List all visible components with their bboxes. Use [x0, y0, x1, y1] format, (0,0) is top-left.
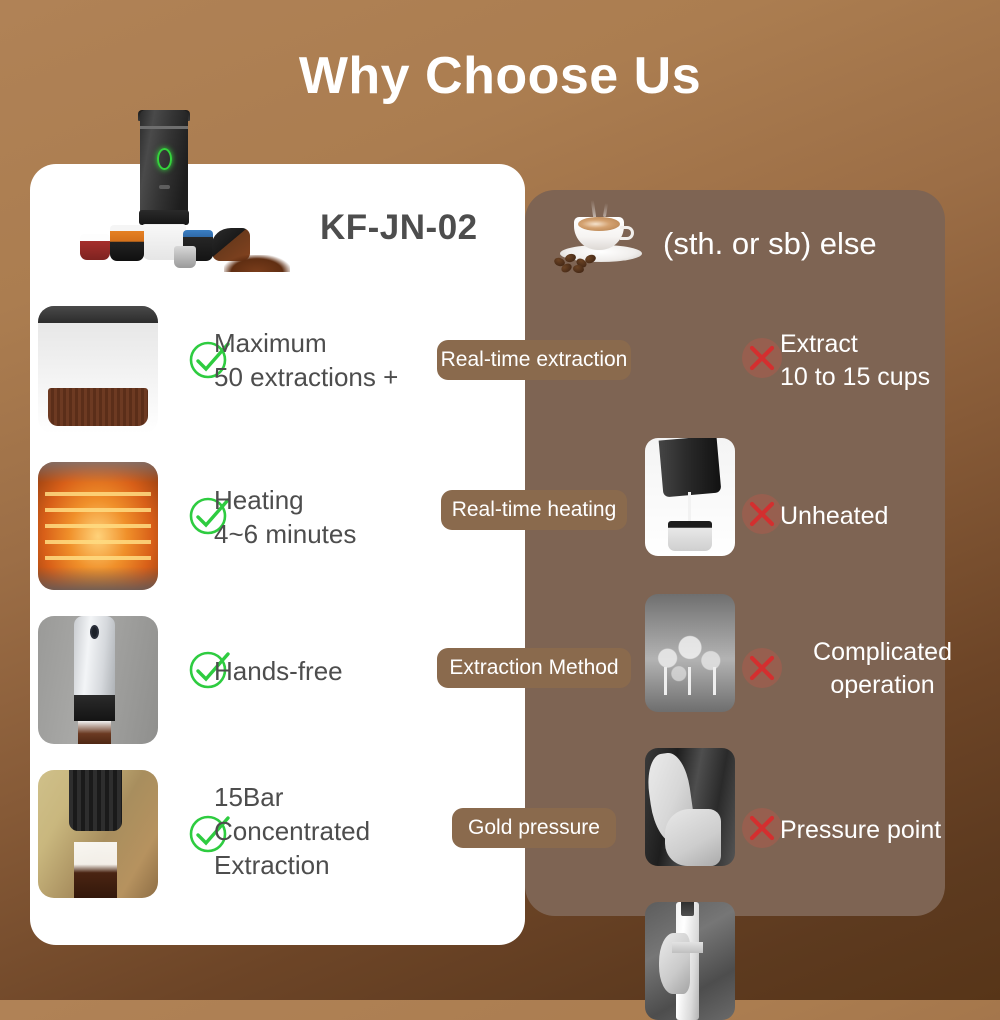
machine-button	[159, 185, 170, 189]
competitor-header-label: (sth. or sb) else	[663, 226, 877, 262]
ours-line: Heating	[214, 483, 356, 517]
comparison-row: Heating 4~6 minutes Real-time heating Un…	[0, 462, 1000, 592]
machine-led-icon	[90, 625, 99, 639]
steam-wisp-1	[591, 200, 596, 218]
ours-line: Maximum	[214, 326, 398, 360]
coffee-beans	[552, 252, 604, 270]
theirs-line: Pressure point	[780, 814, 941, 847]
theirs-line: Extract	[780, 328, 930, 361]
cup-handle	[620, 226, 634, 240]
comparison-row: Maximum 50 extractions + Real-time extra…	[0, 306, 1000, 436]
ours-thumbnail	[38, 306, 158, 434]
feature-label-pill: Real-time heating	[441, 490, 627, 530]
ours-feature-text: 15Bar Concentrated Extraction	[214, 780, 370, 882]
feature-label-pill: Real-time extraction	[437, 340, 631, 380]
cross-circle-icon	[738, 644, 786, 692]
cross-circle-icon	[738, 334, 786, 382]
coffee-liquid	[78, 721, 112, 744]
coffee-grounds-pile	[224, 255, 290, 272]
machine-collar	[139, 210, 189, 225]
ours-thumbnail	[38, 462, 158, 590]
ours-line: Hands-free	[214, 654, 343, 688]
ours-line: 4~6 minutes	[214, 517, 356, 551]
product-model-label: KF-JN-02	[320, 208, 478, 248]
ours-line: Extraction	[214, 848, 370, 882]
theirs-feature-text: Extract 10 to 15 cups	[780, 328, 930, 394]
cross-circle-icon	[738, 490, 786, 538]
ours-thumbnail	[38, 770, 158, 898]
capsule-silver	[174, 246, 196, 268]
cappuccino-cup-icon	[552, 200, 657, 270]
ours-line: Concentrated	[214, 814, 370, 848]
theirs-feature-text: Complicated operation	[780, 636, 985, 702]
latte-art-crema	[578, 217, 620, 231]
ours-feature-text: Hands-free	[214, 654, 343, 688]
cross-circle-icon	[738, 804, 786, 852]
capsule-red	[80, 234, 110, 260]
ours-feature-text: Heating 4~6 minutes	[214, 483, 356, 551]
theirs-feature-text: Pressure point	[780, 814, 941, 847]
comparison-row: 15Bar Concentrated Extraction Gold press…	[0, 770, 1000, 900]
comparison-row: Hands-free Extraction Method Complicated…	[0, 616, 1000, 746]
power-led-icon	[157, 148, 172, 170]
ours-feature-text: Maximum 50 extractions +	[214, 326, 398, 394]
theirs-feature-text: Unheated	[780, 500, 888, 533]
theirs-line: 10 to 15 cups	[780, 361, 930, 394]
feature-label-pill: Gold pressure	[452, 808, 616, 848]
hand-shape	[659, 933, 690, 994]
theirs-line: Complicated	[780, 636, 985, 669]
steam-wisp-2	[603, 203, 608, 217]
page-title: Why Choose Us	[0, 46, 1000, 106]
ours-line: 50 extractions +	[214, 360, 398, 394]
ours-line: 15Bar	[214, 780, 370, 814]
feature-label-pill: Extraction Method	[437, 648, 631, 688]
ours-thumbnail	[38, 616, 158, 744]
machine-ring	[140, 126, 188, 129]
plunger-knob	[681, 902, 694, 916]
product-hero-image	[78, 110, 298, 275]
theirs-line: operation	[780, 669, 985, 702]
capsule-orange	[110, 225, 144, 261]
theirs-thumbnail	[645, 902, 735, 1020]
theirs-line: Unheated	[780, 500, 888, 533]
